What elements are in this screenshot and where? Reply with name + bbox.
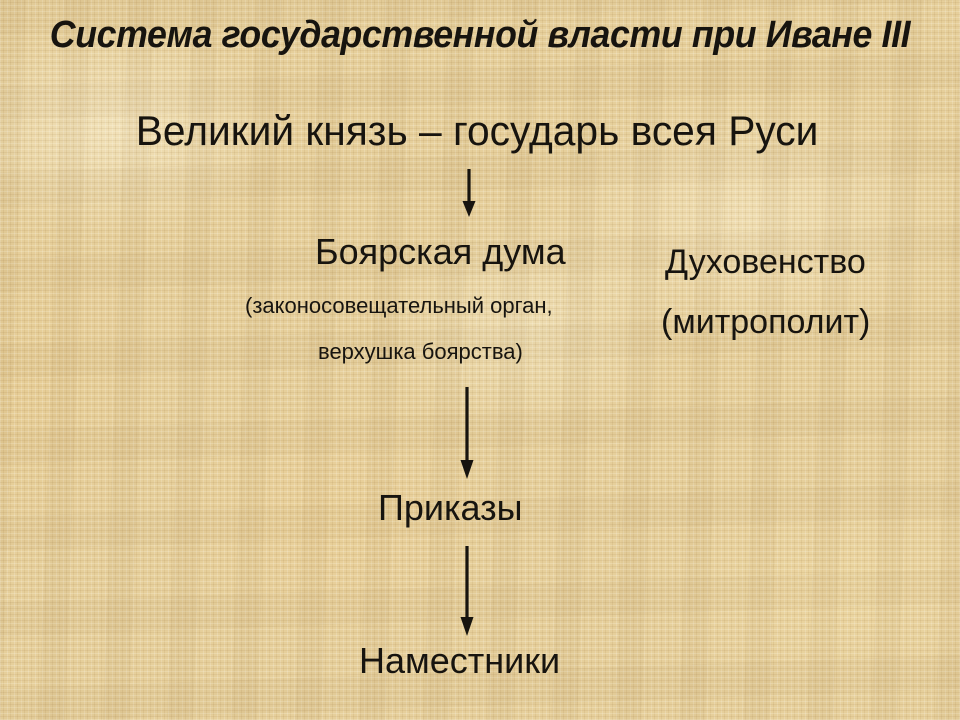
node-boyar-duma-note-line-2: верхушка боярства) <box>318 341 523 363</box>
node-prikazy: Приказы <box>378 490 523 526</box>
slide-title: Система государственной власти при Иване… <box>29 16 931 54</box>
arrow-duma-to-prikazy-icon <box>450 386 484 480</box>
slide-canvas: Система государственной власти при Иване… <box>0 0 960 720</box>
arrow-prince-to-duma-icon <box>452 168 486 218</box>
node-clergy: Духовенство <box>665 245 866 279</box>
node-grand-prince: Великий князь – государь всея Руси <box>11 110 942 152</box>
node-clergy-note: (митрополит) <box>661 305 870 339</box>
node-boyar-duma: Боярская дума <box>315 234 566 270</box>
node-boyar-duma-note-line-1: (законосовещательный орган, <box>245 295 553 317</box>
node-namestniki: Наместники <box>359 643 560 679</box>
arrow-prikazy-to-namestniki-icon <box>450 545 484 637</box>
